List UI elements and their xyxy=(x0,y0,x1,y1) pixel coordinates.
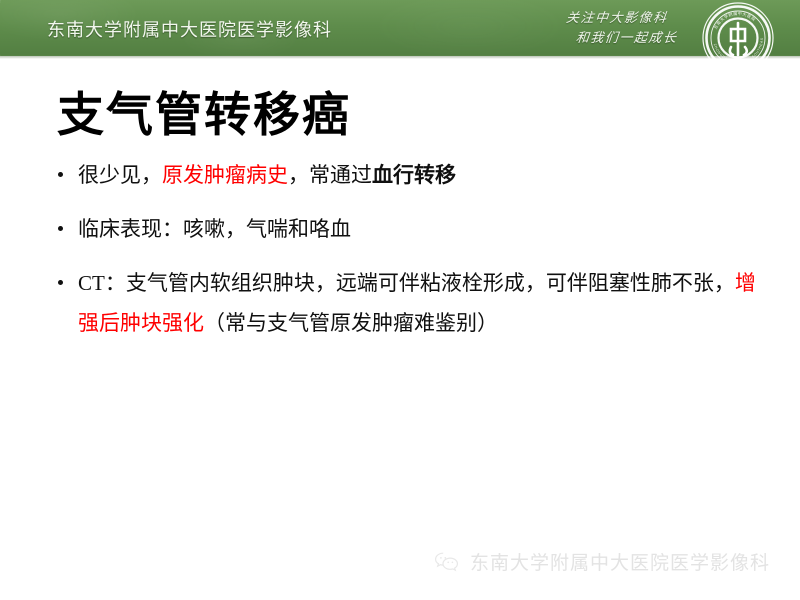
slogan-line-2: 和我们一起成长 xyxy=(563,28,695,48)
footer: 东南大学附属中大医院医学影像科 xyxy=(434,548,770,575)
page-title: 支气管转移癌 xyxy=(57,76,351,145)
bullet-dot-icon xyxy=(58,172,63,177)
hospital-emblem: 东南大学附属中大医院 ZHONGDA HOSPITAL · SOUTHEAST … xyxy=(702,2,774,74)
list-item: 很少见，原发肿瘤病史，常通过血行转移 xyxy=(56,155,756,195)
bullet-text: CT：支气管内软组织肿块，远端可伴粘液栓形成，可伴阻塞性肺不张，增强后肿块强化（… xyxy=(78,271,756,335)
bullet-segment: ，常通过 xyxy=(288,163,372,187)
bullet-segment: 原发肿瘤病史 xyxy=(162,163,288,187)
list-item: 临床表现：咳嗽，气喘和咯血 xyxy=(56,209,756,249)
bullet-segment: 临床表现：咳嗽，气喘和咯血 xyxy=(78,217,351,241)
header-slogan: 关注中大影像科 和我们一起成长 xyxy=(563,8,697,48)
bullet-text: 临床表现：咳嗽，气喘和咯血 xyxy=(78,217,351,241)
slogan-line-1: 关注中大影像科 xyxy=(565,10,668,25)
list-item: CT：支气管内软组织肿块，远端可伴粘液栓形成，可伴阻塞性肺不张，增强后肿块强化（… xyxy=(56,263,756,343)
bullet-segment: 血行转移 xyxy=(372,163,456,187)
department-title: 东南大学附属中大医院医学影像科 xyxy=(47,16,332,42)
emblem-year-text: 1935 xyxy=(734,58,742,62)
bullet-text: 很少见，原发肿瘤病史，常通过血行转移 xyxy=(78,163,456,187)
bullet-segment: 很少见， xyxy=(78,163,162,187)
bullet-list: 很少见，原发肿瘤病史，常通过血行转移 临床表现：咳嗽，气喘和咯血 CT：支气管内… xyxy=(56,155,756,357)
footer-text: 东南大学附属中大医院医学影像科 xyxy=(470,548,770,575)
wechat-icon xyxy=(434,551,460,573)
bullet-dot-icon xyxy=(58,280,63,285)
bullet-segment: （常与支气管原发肿瘤难鉴别） xyxy=(204,311,498,335)
bullet-segment: CT：支气管内软组织肿块，远端可伴粘液栓形成，可伴阻塞性肺不张， xyxy=(78,271,735,295)
bullet-dot-icon xyxy=(58,226,63,231)
banner-shadow xyxy=(0,56,800,59)
